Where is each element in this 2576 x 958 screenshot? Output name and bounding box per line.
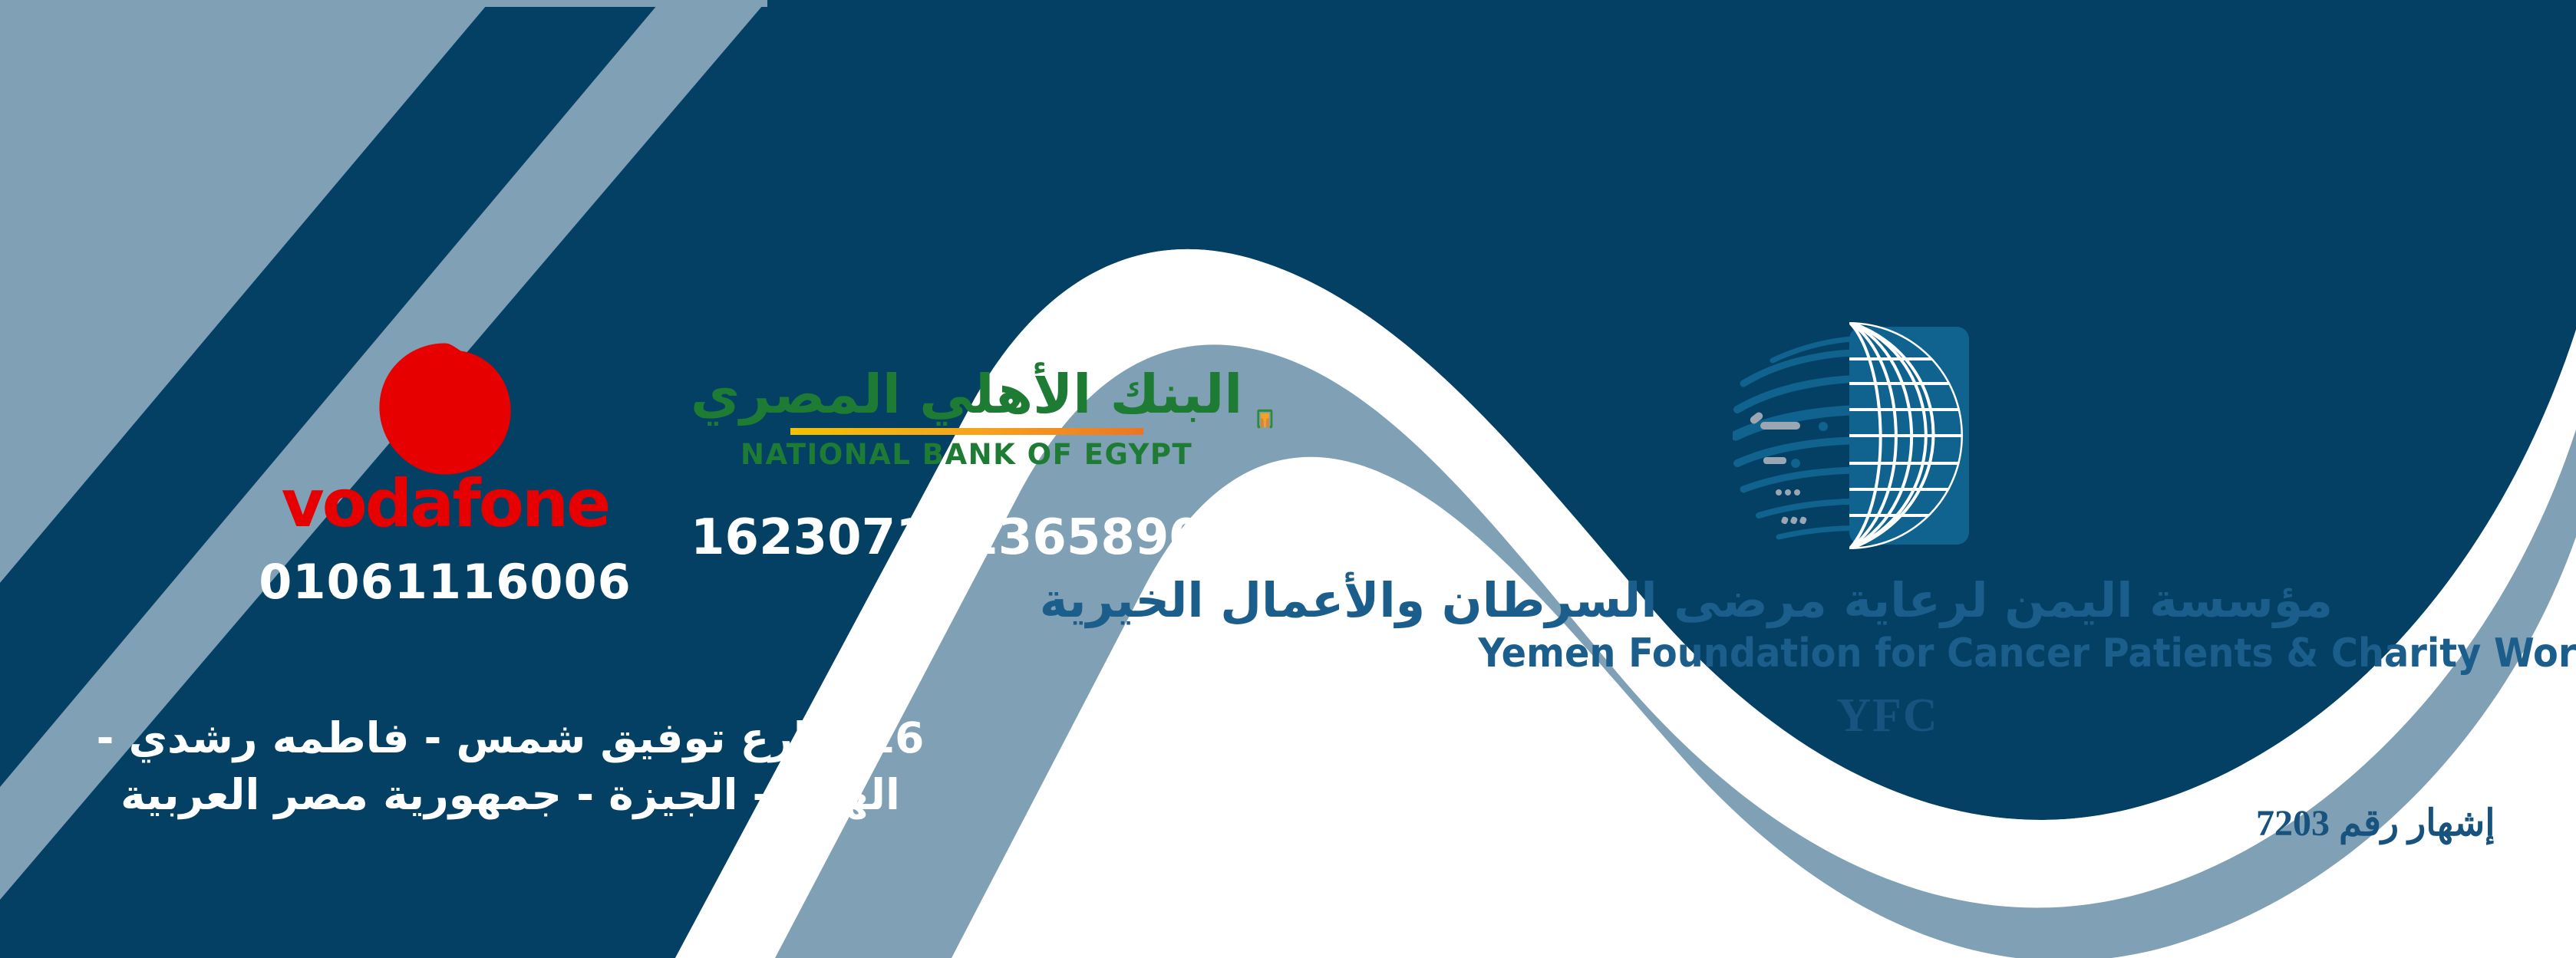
nbe-account-number: 1623071413658900024 — [691, 509, 1274, 566]
address-line-2: الهرم - الجيزة - جمهورية مصر العربية — [92, 766, 928, 823]
globe-wireframe-icon — [1733, 313, 2024, 558]
address-line-1: 16 شارع توفيق شمس - فاطمه رشدي - — [92, 709, 928, 766]
foundation-name-arabic: مؤسسة اليمن لرعاية مرضى السرطان والأعمال… — [1443, 574, 2333, 627]
foundation-name-block: مؤسسة اليمن لرعاية مرضى السرطان والأعمال… — [1443, 574, 2333, 743]
charity-banner: vodafone 01061116006 البنك الأهلي المصري… — [0, 0, 2576, 958]
foundation-acronym: YFC — [1443, 689, 2333, 743]
vodafone-wordmark: vodafone — [282, 471, 609, 537]
vodafone-phone-number: 01061116006 — [230, 554, 660, 610]
nbe-pillar-icon — [1256, 345, 1274, 492]
declaration-number: إشهار رقم 7203 — [2256, 802, 2495, 844]
nbe-logo: البنك الأهلي المصري NATIONAL BANK OF EGY… — [691, 345, 1274, 492]
nbe-text-lockup: البنك الأهلي المصري NATIONAL BANK OF EGY… — [691, 367, 1242, 471]
vodafone-speechmark-icon — [374, 337, 516, 480]
vodafone-logo: vodafone — [230, 337, 660, 537]
foundation-name-english: Yemen Foundation for Cancer Patients & C… — [1478, 630, 2297, 677]
donor-national-bank-of-egypt: البنك الأهلي المصري NATIONAL BANK OF EGY… — [691, 345, 1274, 566]
address: 16 شارع توفيق شمس - فاطمه رشدي - الهرم -… — [92, 709, 928, 824]
nbe-gradient-rule — [790, 428, 1143, 435]
nbe-name-arabic: البنك الأهلي المصري — [691, 367, 1242, 423]
donor-vodafone: vodafone 01061116006 — [230, 337, 660, 610]
nbe-name-english: NATIONAL BANK OF EGYPT — [740, 438, 1192, 471]
